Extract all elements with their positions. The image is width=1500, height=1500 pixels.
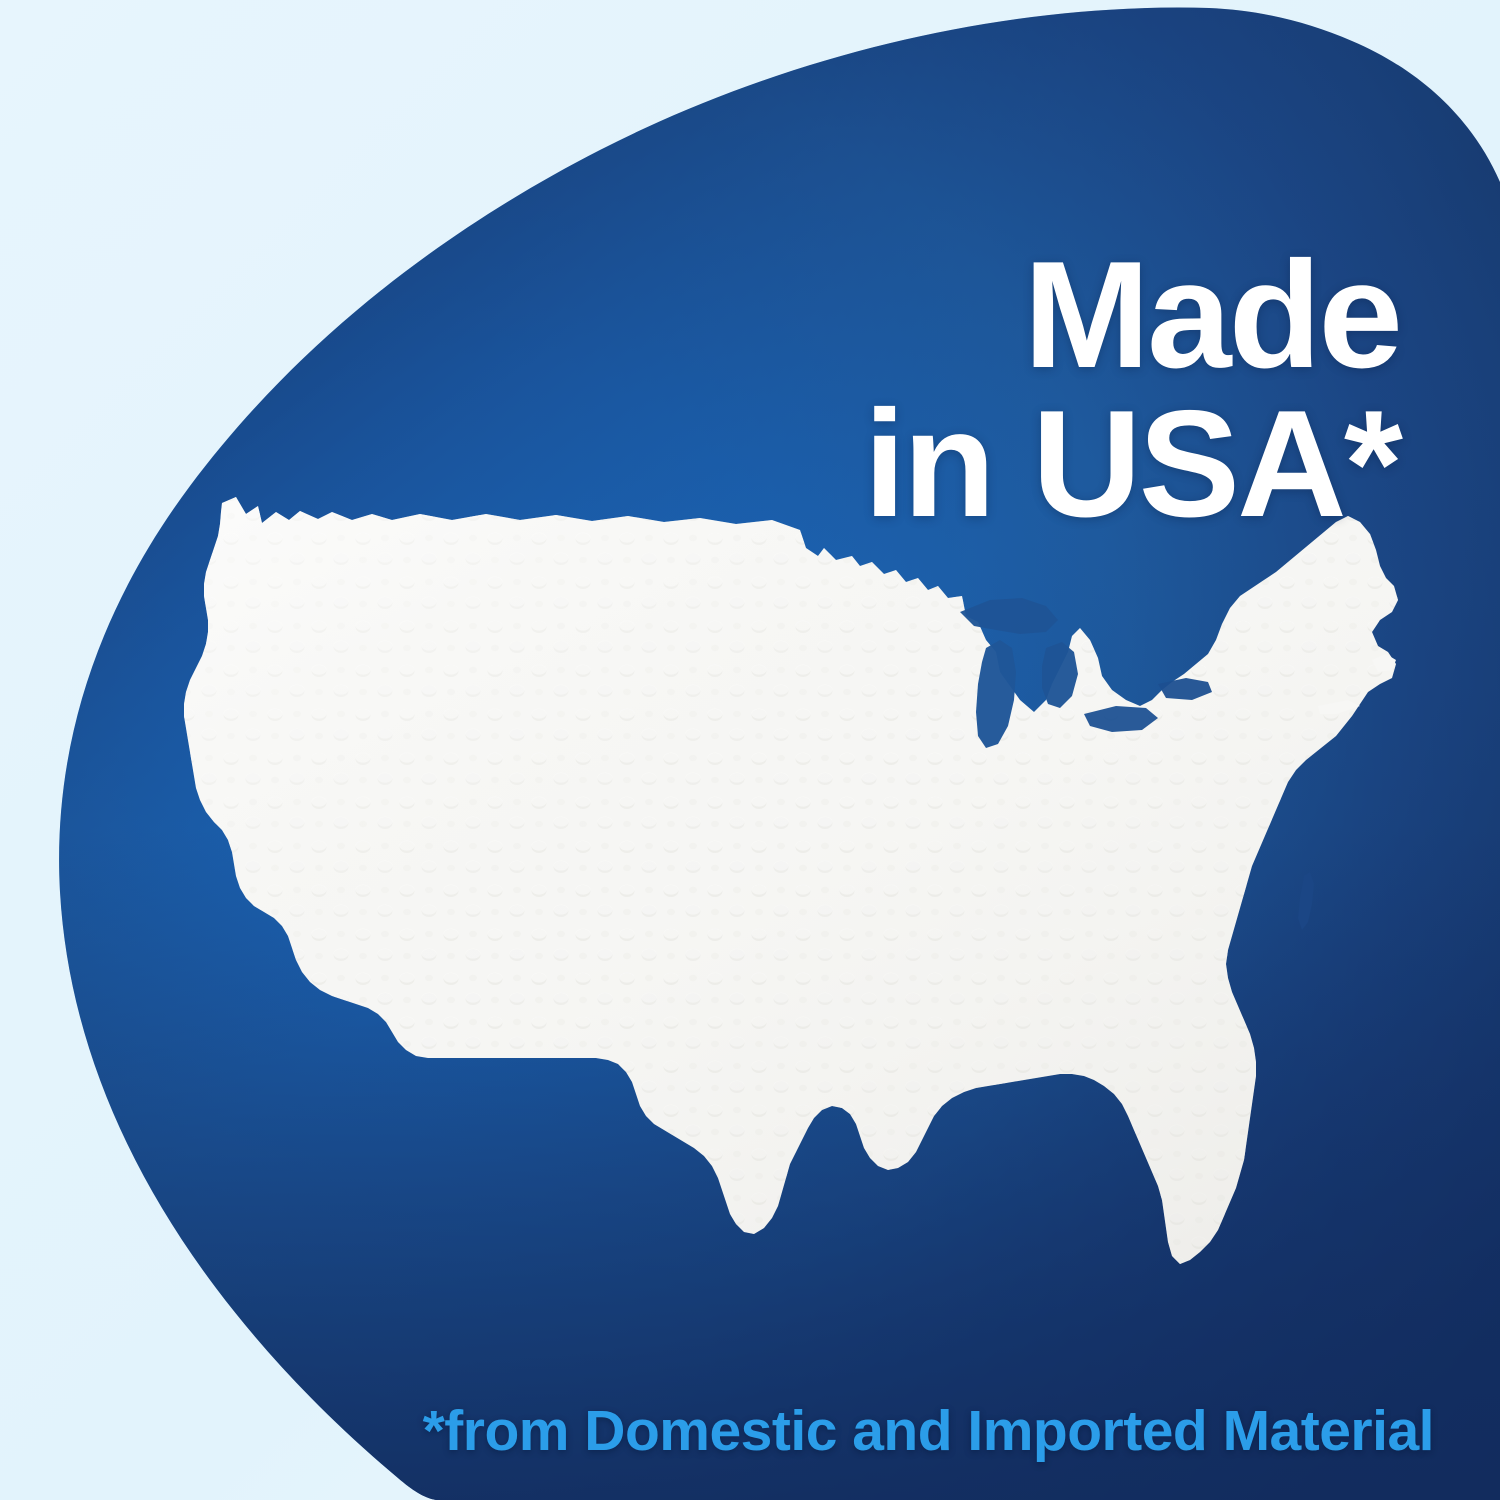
marketing-graphic-canvas: Made in USA* *from Domestic and Imported…: [0, 0, 1500, 1500]
artboard: [0, 0, 1500, 1500]
